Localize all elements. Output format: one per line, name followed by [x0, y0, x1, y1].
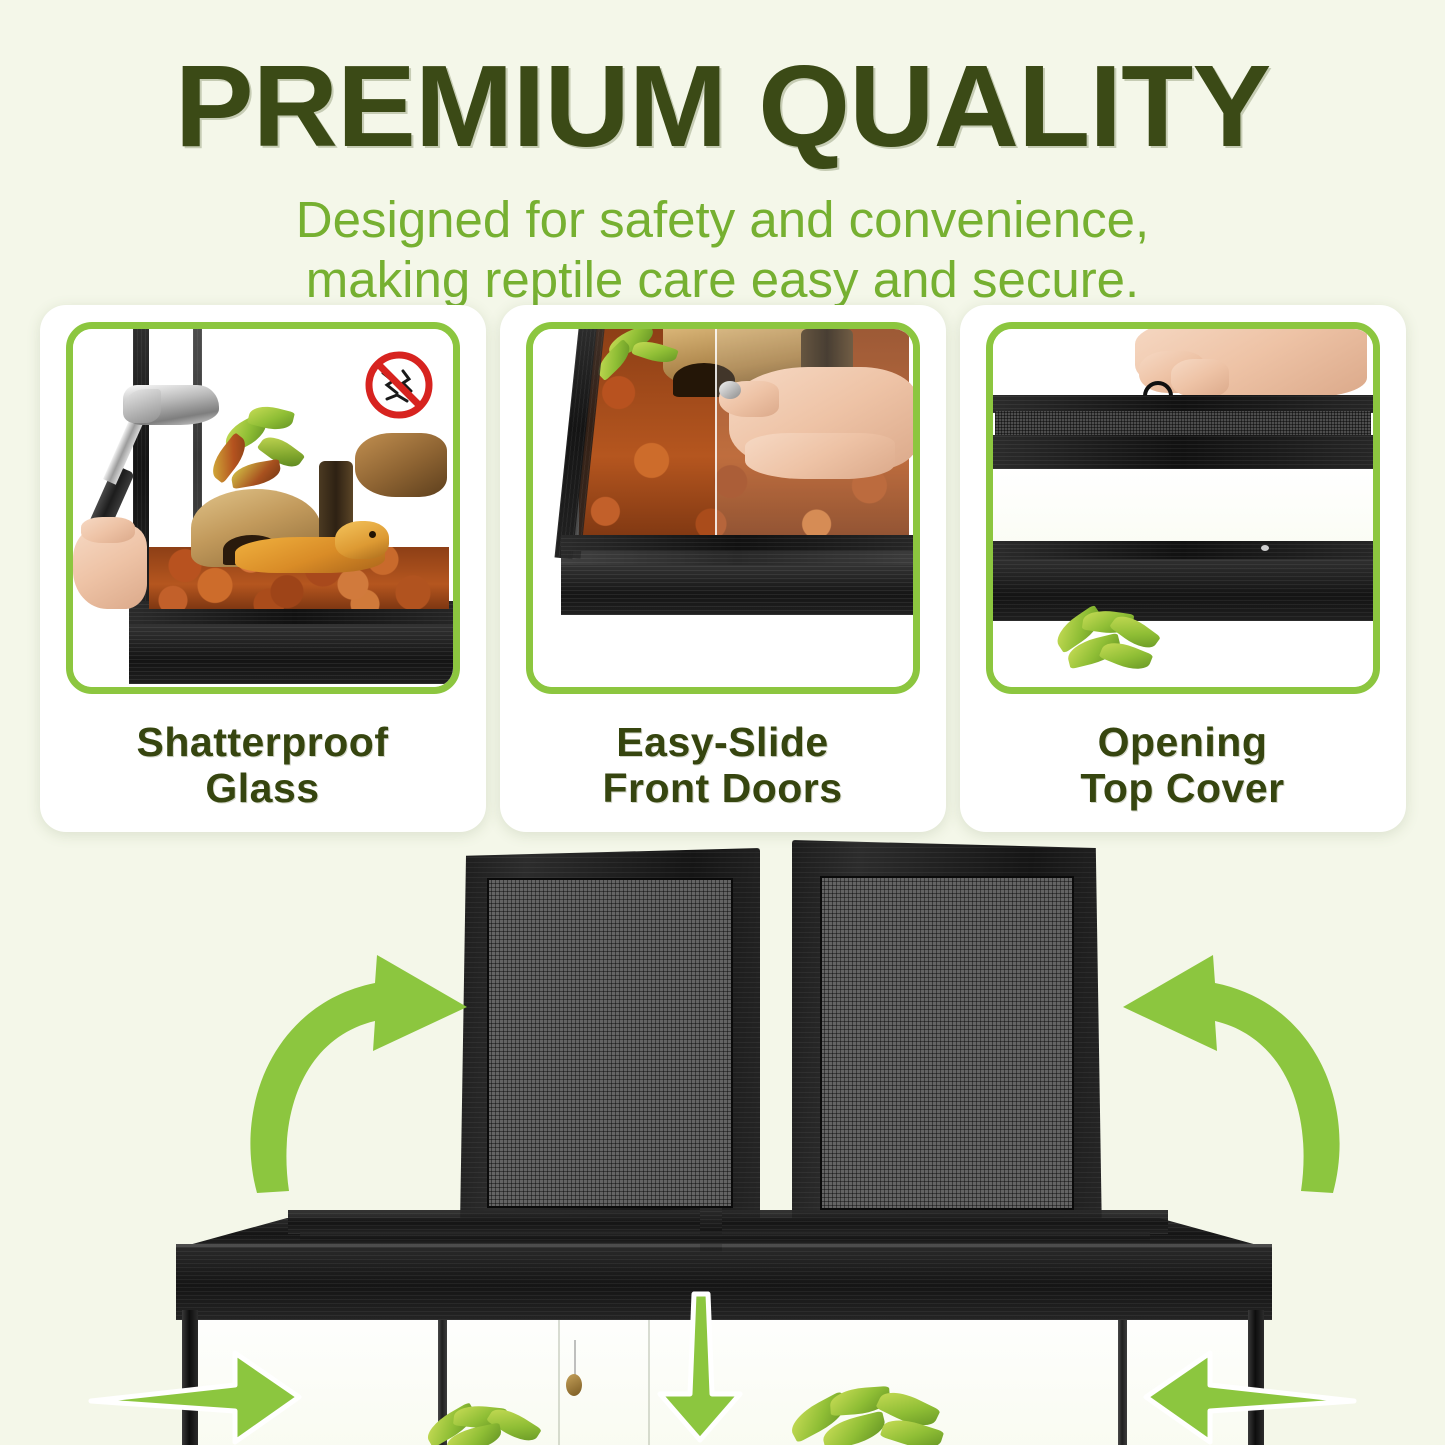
arrow-center [648, 1290, 753, 1445]
subtitle-line-1: Designed for safety and convenience, [0, 190, 1445, 250]
arrow-right-side [1140, 1345, 1360, 1445]
feature-label-line-1: Easy-Slide [602, 720, 842, 766]
feature-photo-frame [986, 322, 1380, 694]
feature-card-shatterproof-glass[interactable]: Shatterproof Glass [40, 305, 486, 832]
feature-label-line-2: Top Cover [1080, 766, 1284, 812]
feature-card-opening-top-cover[interactable]: Opening Top Cover [960, 305, 1406, 832]
feature-card-label: Opening Top Cover [1080, 720, 1284, 812]
feature-photo-frame [526, 322, 920, 694]
feature-card-label: Easy-Slide Front Doors [602, 720, 842, 812]
photo-shatterproof-glass [73, 329, 453, 687]
page-title: PREMIUM QUALITY [0, 0, 1445, 164]
no-cracks-prohibition-icon [363, 349, 435, 421]
feature-label-line-1: Opening [1080, 720, 1284, 766]
arrow-curved-right [1085, 925, 1375, 1205]
feature-photo-frame [66, 322, 460, 694]
arrow-left-side [85, 1345, 305, 1445]
arrow-curved-left [215, 925, 505, 1205]
feature-label-line-2: Glass [137, 766, 389, 812]
feature-label-line-1: Shatterproof [137, 720, 389, 766]
product-hero-image [0, 840, 1445, 1445]
feature-label-line-2: Front Doors [602, 766, 842, 812]
subtitle-line-2: making reptile care easy and secure. [0, 250, 1445, 310]
header: PREMIUM QUALITY Designed for safety and … [0, 0, 1445, 310]
feature-card-easy-slide-front-doors[interactable]: Easy-Slide Front Doors [500, 305, 946, 832]
page-subtitle: Designed for safety and convenience, mak… [0, 164, 1445, 310]
feature-card-row: Shatterproof Glass [0, 305, 1445, 835]
photo-easy-slide-front-doors [533, 329, 913, 687]
photo-opening-top-cover [993, 329, 1373, 687]
feature-card-label: Shatterproof Glass [137, 720, 389, 812]
infographic-canvas: PREMIUM QUALITY Designed for safety and … [0, 0, 1445, 1445]
